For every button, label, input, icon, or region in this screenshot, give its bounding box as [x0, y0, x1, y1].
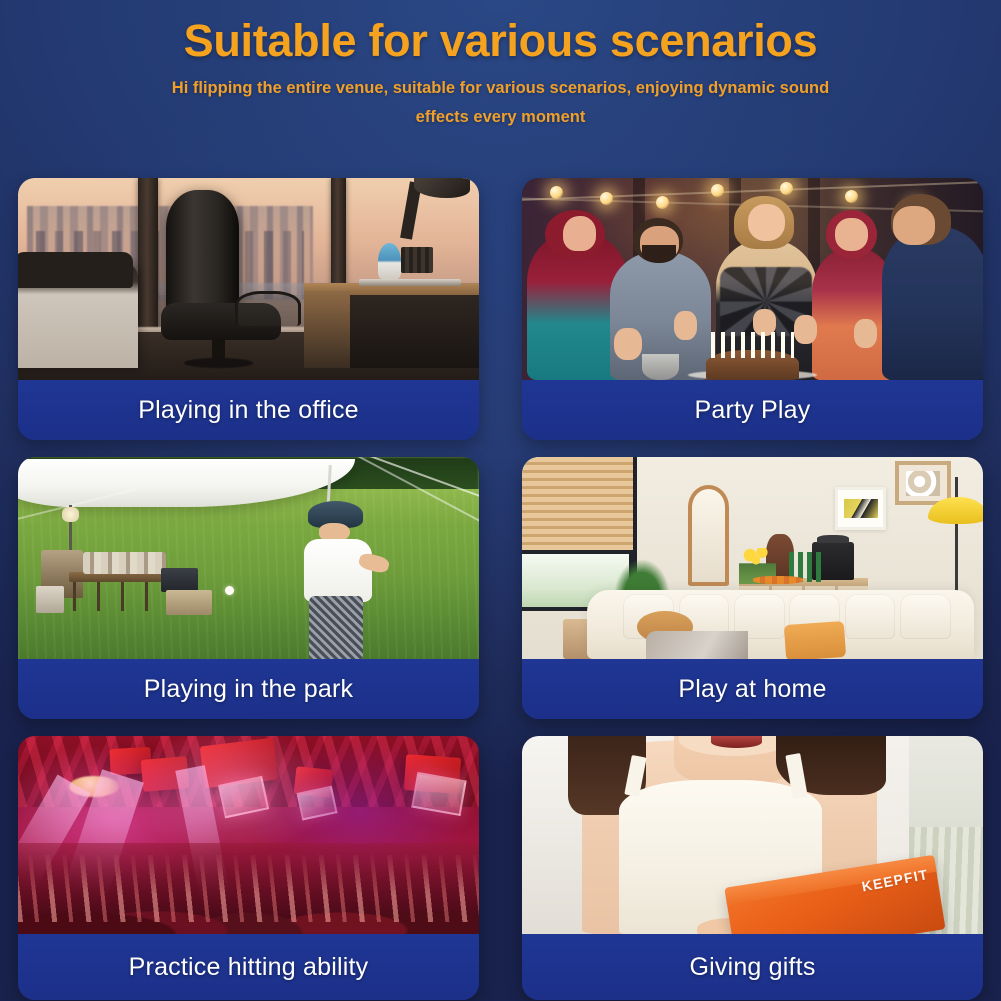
- concert-scene-art: [18, 736, 479, 934]
- gift-photo: KEEPFIT KEEP: [522, 736, 983, 934]
- home-scene-art: [522, 457, 983, 659]
- concert-photo: [18, 736, 479, 934]
- page-subtitle: Hi flipping the entire venue, suitable f…: [171, 74, 831, 132]
- park-scene-art: [18, 457, 479, 659]
- party-caption-bar: Party Play: [522, 380, 983, 440]
- home-caption-text: Play at home: [678, 675, 826, 704]
- office-photo: [18, 178, 479, 380]
- office-scene-art: [18, 178, 479, 380]
- concert-caption-text: Practice hitting ability: [129, 953, 369, 982]
- office-caption-text: Playing in the office: [138, 396, 359, 425]
- scenario-card-home[interactable]: Play at home: [522, 457, 983, 719]
- home-photo: [522, 457, 983, 659]
- park-caption-text: Playing in the park: [144, 675, 353, 704]
- header: Suitable for various scenarios Hi flippi…: [0, 0, 1001, 168]
- scenario-card-party[interactable]: Party Play: [522, 178, 983, 440]
- park-caption-bar: Playing in the park: [18, 659, 479, 719]
- party-photo: [522, 178, 983, 380]
- scenario-card-grid: Playing in the office: [18, 178, 983, 1000]
- party-scene-art: [522, 178, 983, 380]
- party-caption-text: Party Play: [695, 396, 811, 425]
- page-title: Suitable for various scenarios: [0, 0, 1001, 64]
- scenario-card-park[interactable]: Playing in the park: [18, 457, 479, 719]
- gift-scene-art: KEEPFIT KEEP: [522, 736, 983, 934]
- park-photo: [18, 457, 479, 659]
- scenario-card-concert[interactable]: Practice hitting ability: [18, 736, 479, 1000]
- scenario-card-office[interactable]: Playing in the office: [18, 178, 479, 440]
- scenario-card-gift[interactable]: KEEPFIT KEEP Giving gifts: [522, 736, 983, 1000]
- concert-caption-bar: Practice hitting ability: [18, 934, 479, 1000]
- home-caption-bar: Play at home: [522, 659, 983, 719]
- gift-caption-bar: Giving gifts: [522, 934, 983, 1000]
- gift-caption-text: Giving gifts: [689, 953, 815, 982]
- office-caption-bar: Playing in the office: [18, 380, 479, 440]
